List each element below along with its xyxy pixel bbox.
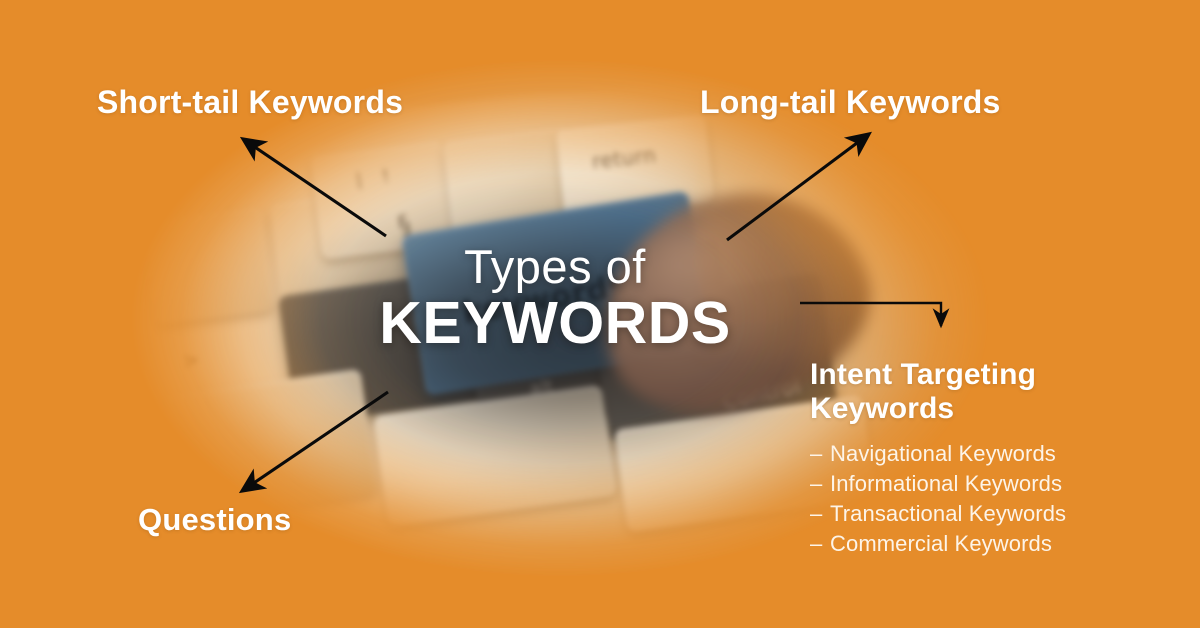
list-item-label: Transactional Keywords: [830, 501, 1066, 526]
list-item-label: Navigational Keywords: [830, 441, 1056, 466]
page-title-line1: Types of: [300, 243, 810, 291]
callout-label-long-tail: Long-tail Keywords: [700, 84, 1001, 121]
intent-heading-line2: Keywords: [810, 392, 954, 425]
list-item: –Transactional Keywords: [810, 499, 1130, 529]
list-item: –Navigational Keywords: [810, 439, 1130, 469]
intent-keyword-list: –Navigational Keywords –Informational Ke…: [810, 439, 1130, 559]
list-item: –Commercial Keywords: [810, 529, 1130, 559]
list-item-label: Commercial Keywords: [830, 531, 1052, 556]
intent-targeting-heading: Intent Targeting Keywords: [810, 358, 1130, 425]
list-dash: –: [810, 439, 830, 469]
list-dash: –: [810, 469, 830, 499]
list-dash: –: [810, 529, 830, 559]
infographic-canvas: return ! | § ? - / > keywords alt Contro…: [0, 0, 1200, 628]
intent-heading-line1: Intent Targeting: [810, 358, 1036, 391]
page-title: Types of KEYWORDS: [300, 243, 810, 355]
intent-targeting-block: Intent Targeting Keywords –Navigational …: [810, 358, 1130, 559]
callout-label-questions: Questions: [138, 502, 291, 538]
photo-key-gt-label: >: [180, 347, 201, 373]
callout-label-short-tail: Short-tail Keywords: [97, 84, 403, 121]
page-title-line2: KEYWORDS: [300, 293, 810, 355]
list-dash: –: [810, 499, 830, 529]
list-item: –Informational Keywords: [810, 469, 1130, 499]
list-item-label: Informational Keywords: [830, 471, 1062, 496]
